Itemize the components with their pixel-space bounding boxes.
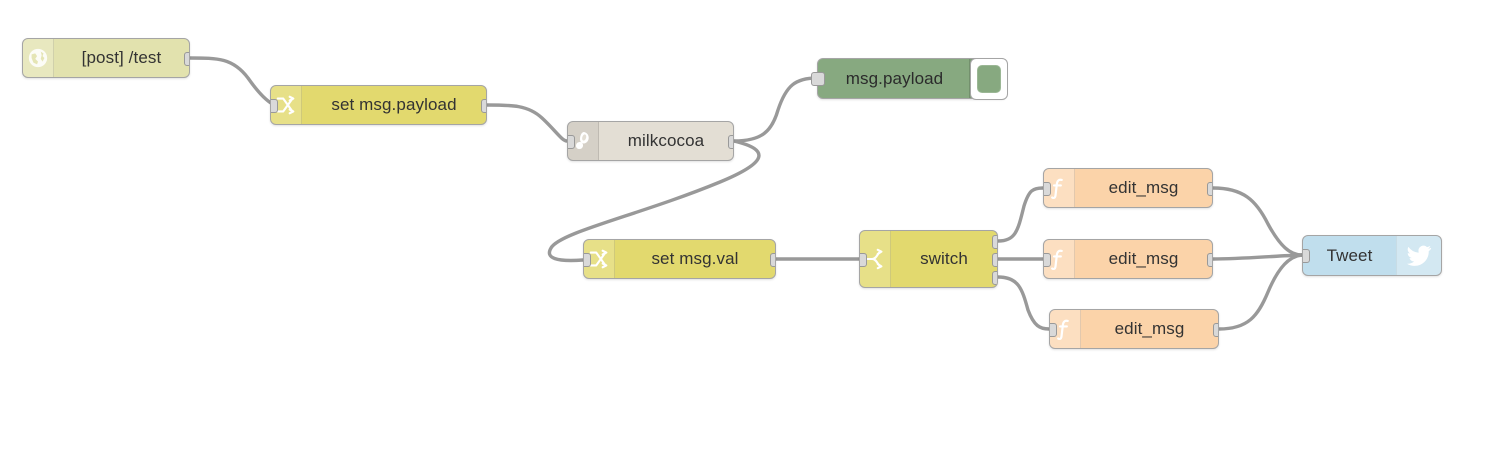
- node-label: [post] /test: [54, 39, 189, 77]
- node-label: msg.payload: [818, 59, 969, 98]
- node-change-val[interactable]: set msg.val: [583, 239, 776, 279]
- output-port[interactable]: [728, 135, 734, 149]
- wire[interactable]: [1219, 255, 1302, 329]
- wire[interactable]: [998, 277, 1049, 329]
- node-label: edit_msg: [1081, 310, 1218, 348]
- input-port[interactable]: [567, 135, 575, 149]
- wire[interactable]: [190, 58, 276, 105]
- node-function-1[interactable]: edit_msg: [1043, 168, 1213, 208]
- output-port[interactable]: [1213, 323, 1219, 337]
- output-port[interactable]: [1207, 253, 1213, 267]
- node-switch[interactable]: switch: [859, 230, 998, 288]
- input-port[interactable]: [811, 72, 825, 86]
- node-label: Tweet: [1303, 236, 1396, 275]
- debug-toggle-icon[interactable]: [970, 58, 1008, 100]
- node-twitter-out[interactable]: Tweet: [1302, 235, 1442, 276]
- input-port[interactable]: [1043, 253, 1051, 267]
- wire[interactable]: [734, 78, 817, 141]
- node-label: edit_msg: [1075, 240, 1212, 278]
- wire[interactable]: [1213, 188, 1302, 255]
- globe-icon: [23, 39, 54, 77]
- node-label: milkcocoa: [599, 122, 733, 160]
- node-label: set msg.val: [615, 240, 775, 278]
- wire[interactable]: [487, 105, 567, 141]
- node-label: switch: [891, 231, 997, 287]
- node-milkcocoa[interactable]: milkcocoa: [567, 121, 734, 161]
- output-port[interactable]: [770, 253, 776, 267]
- output-port[interactable]: [481, 99, 487, 113]
- output-port-3[interactable]: [992, 271, 998, 285]
- input-port[interactable]: [270, 99, 278, 113]
- node-change-payload[interactable]: set msg.payload: [270, 85, 487, 125]
- output-port[interactable]: [184, 52, 190, 66]
- node-http-in[interactable]: [post] /test: [22, 38, 190, 78]
- input-port[interactable]: [1302, 249, 1310, 263]
- input-port[interactable]: [1049, 323, 1057, 337]
- node-label: edit_msg: [1075, 169, 1212, 207]
- input-port[interactable]: [1043, 182, 1051, 196]
- flow-canvas[interactable]: [post] /test set msg.payload milkcocoa: [0, 0, 1485, 456]
- output-port-1[interactable]: [992, 235, 998, 249]
- wire[interactable]: [998, 188, 1043, 241]
- node-label: set msg.payload: [302, 86, 486, 124]
- output-port-2[interactable]: [992, 253, 998, 267]
- node-function-2[interactable]: edit_msg: [1043, 239, 1213, 279]
- input-port[interactable]: [859, 253, 867, 267]
- output-port[interactable]: [1207, 182, 1213, 196]
- node-debug[interactable]: msg.payload: [817, 58, 1007, 99]
- node-function-3[interactable]: edit_msg: [1049, 309, 1219, 349]
- wire-layer: [0, 0, 1485, 456]
- input-port[interactable]: [583, 253, 591, 267]
- twitter-bird-icon: [1396, 236, 1441, 275]
- wire[interactable]: [1213, 255, 1302, 259]
